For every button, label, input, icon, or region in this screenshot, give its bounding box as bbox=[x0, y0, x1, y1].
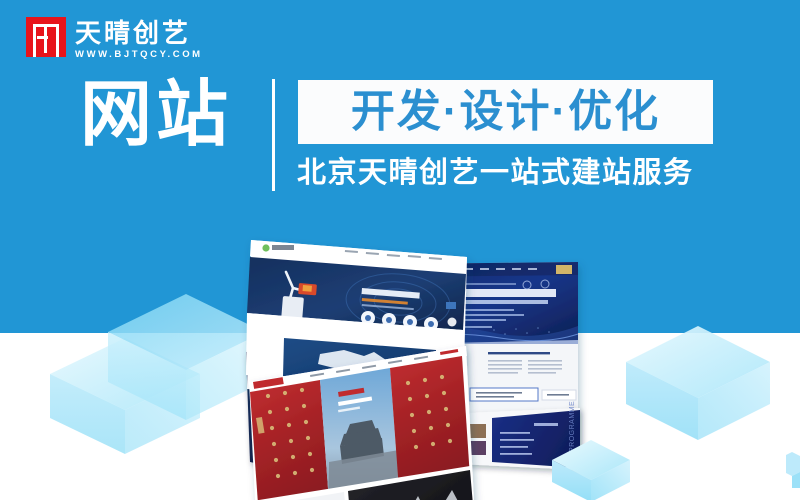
headline-divider bbox=[272, 79, 275, 191]
headline-subtitle: 北京天晴创艺一站式建站服务 bbox=[297, 156, 694, 190]
headline-boxed-panel: 开发·设计·优化 bbox=[298, 80, 713, 144]
headline-main: 网站 bbox=[80, 76, 232, 154]
logo-website-url: WWW.BJTQCY.COM bbox=[75, 48, 203, 61]
headline-boxed-text: 开发·设计·优化 bbox=[351, 88, 660, 136]
brand-logo[interactable]: 天晴创艺 WWW.BJTQCY.COM bbox=[26, 17, 203, 61]
tqcy-square-logo-icon bbox=[26, 17, 66, 57]
cube-small-bottom bbox=[546, 436, 636, 500]
logo-text-block: 天晴创艺 WWW.BJTQCY.COM bbox=[75, 17, 203, 61]
website-service-banner: PROGRAMME bbox=[0, 0, 800, 500]
logo-company-name: 天晴创艺 bbox=[75, 18, 203, 48]
